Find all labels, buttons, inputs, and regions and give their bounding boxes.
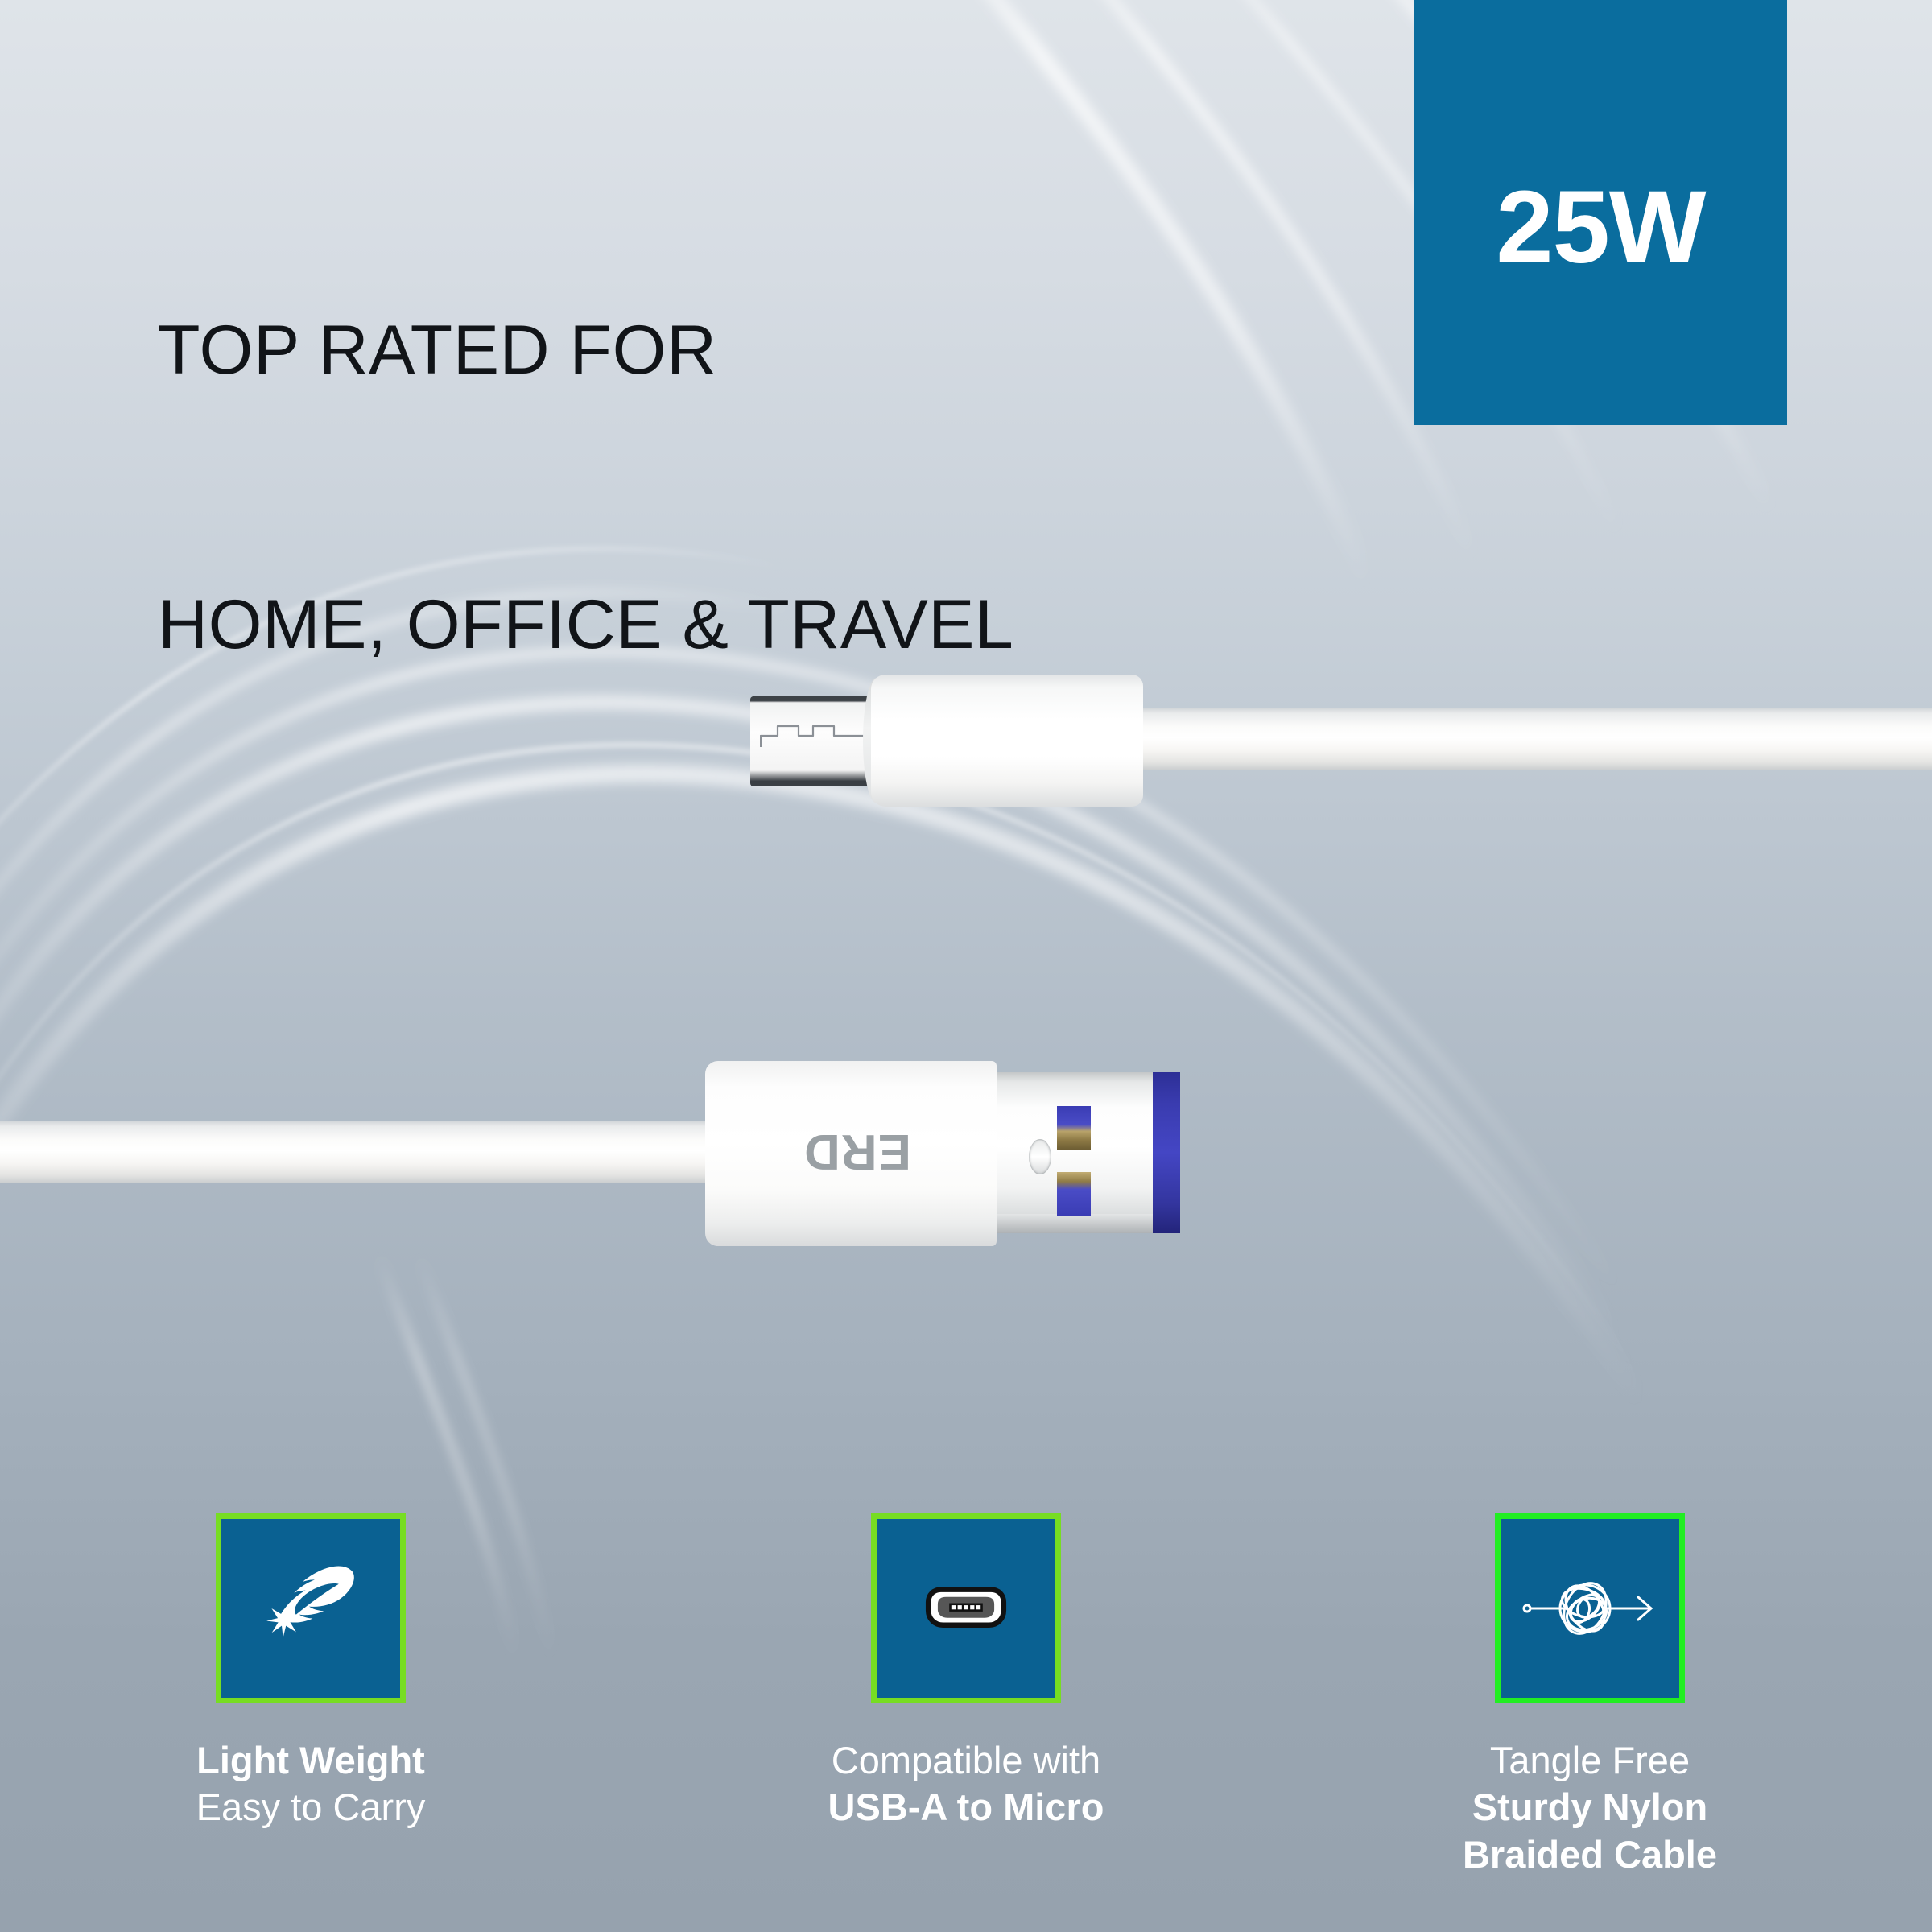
cable-lower xyxy=(0,1121,726,1183)
usb-a-contact-upper xyxy=(1057,1106,1091,1150)
usb-a-connector: ERD xyxy=(705,1061,1195,1246)
usb-a-blue-insert xyxy=(1153,1072,1180,1233)
product-marketing-banner: 25W TOP RATED FOR HOME, OFFICE & TRAVEL … xyxy=(0,0,1932,1932)
usb-a-contact-lower xyxy=(1057,1172,1091,1216)
caption-line: Sturdy Nylon xyxy=(1463,1784,1717,1831)
brand-logo: ERD xyxy=(789,1125,926,1177)
micro-usb-barrel xyxy=(871,675,1143,807)
tangle-free-arrow-icon xyxy=(1517,1564,1662,1653)
feather-icon xyxy=(250,1548,371,1669)
feature-tangle-free: Tangle Free Sturdy Nylon Braided Cable xyxy=(1429,1513,1751,1878)
caption-line: Tangle Free xyxy=(1463,1737,1717,1784)
caption-line: USB-A to Micro xyxy=(828,1784,1104,1831)
usb-a-shell-bottom-edge xyxy=(991,1214,1164,1233)
wattage-badge: 25W xyxy=(1414,0,1787,425)
caption-line: Compatible with xyxy=(828,1737,1104,1784)
feature-caption: Tangle Free Sturdy Nylon Braided Cable xyxy=(1463,1737,1717,1878)
caption-line: Easy to Carry xyxy=(196,1784,426,1831)
feature-icon-tile xyxy=(1495,1513,1685,1703)
headline-line-1: TOP RATED FOR xyxy=(158,305,1013,397)
feature-strip: Light Weight Easy to Carry xyxy=(0,1513,1932,1932)
micro-usb-pin-pattern xyxy=(760,723,866,750)
cable-upper xyxy=(1132,708,1932,770)
feature-caption: Compatible with USB-A to Micro xyxy=(828,1737,1104,1831)
feature-compatibility: Compatible with USB-A to Micro xyxy=(805,1513,1127,1831)
micro-usb-connector xyxy=(749,675,1143,807)
badge-label: 25W xyxy=(1496,176,1705,279)
feature-icon-tile xyxy=(871,1513,1061,1703)
feature-caption: Light Weight Easy to Carry xyxy=(196,1737,426,1831)
usb-a-alignment-hole xyxy=(1029,1139,1051,1174)
caption-line: Braided Cable xyxy=(1463,1831,1717,1878)
feature-icon-tile xyxy=(216,1513,406,1703)
micro-usb-port-icon xyxy=(903,1546,1029,1671)
headline-line-2: HOME, OFFICE & TRAVEL xyxy=(158,580,1013,671)
feature-light-weight: Light Weight Easy to Carry xyxy=(150,1513,472,1831)
caption-line: Light Weight xyxy=(196,1737,426,1784)
